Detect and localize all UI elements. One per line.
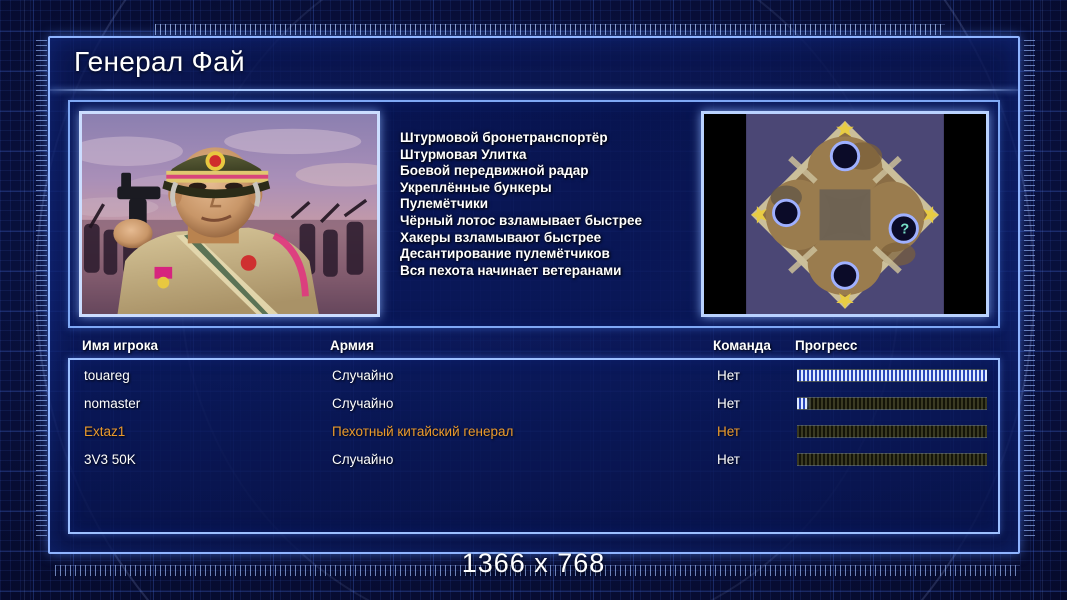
column-header-progress: Прогресс: [795, 338, 857, 353]
general-portrait-image: [82, 114, 377, 316]
ability-item: Боевой передвижной радар: [400, 163, 730, 180]
column-header-team: Команда: [713, 338, 771, 353]
player-name: Extaz1: [84, 420, 125, 444]
resolution-overlay: 1366 x 768: [0, 548, 1067, 579]
minimap-spawn-marker-label: ?: [900, 221, 909, 237]
page-title: Генерал Фай: [74, 46, 245, 78]
player-row[interactable]: Extaz1 Пехотный китайский генерал Нет: [70, 420, 998, 444]
ability-item: Укреплённые бункеры: [400, 180, 730, 197]
player-progress-bar: [797, 397, 987, 410]
background-vline: [24, 0, 25, 600]
player-army[interactable]: Пехотный китайский генерал: [332, 420, 513, 444]
ability-item: Пулемётчики: [400, 196, 730, 213]
player-row[interactable]: touareg Случайно Нет: [70, 364, 998, 388]
ability-item: Вся пехота начинает ветеранами: [400, 263, 730, 280]
player-progress-fill: [797, 398, 807, 409]
player-table-header: Имя игрока Армия Команда Прогресс: [68, 338, 1000, 358]
ability-item: Хакеры взламывают быстрее: [400, 230, 730, 247]
player-name: 3V3 50K: [84, 448, 136, 472]
player-team[interactable]: Нет: [717, 392, 740, 416]
general-info-box: Штурмовой бронетранспортёр Штурмовая Ули…: [68, 100, 1000, 328]
player-team[interactable]: Нет: [717, 420, 740, 444]
player-army[interactable]: Случайно: [332, 448, 393, 472]
ability-item: Штурмовая Улитка: [400, 147, 730, 164]
game-lobby-screen: Генерал Фай: [0, 0, 1067, 600]
background-vline: [1042, 0, 1043, 600]
player-progress-fill: [797, 370, 987, 381]
player-name: nomaster: [84, 392, 140, 416]
title-divider: [50, 89, 1018, 91]
player-team[interactable]: Нет: [717, 448, 740, 472]
column-header-army: Армия: [330, 338, 374, 353]
player-row[interactable]: 3V3 50K Случайно Нет: [70, 448, 998, 472]
ability-item: Десантирование пулемётчиков: [400, 246, 730, 263]
main-panel: Генерал Фай: [48, 36, 1020, 554]
player-progress-bar: [797, 453, 987, 466]
ruler-left: [36, 40, 47, 540]
player-army[interactable]: Случайно: [332, 392, 393, 416]
column-header-name: Имя игрока: [82, 338, 158, 353]
player-progress-bar: [797, 369, 987, 382]
player-row[interactable]: nomaster Случайно Нет: [70, 392, 998, 416]
player-progress-bar: [797, 425, 987, 438]
general-portrait: [79, 111, 380, 317]
ability-item: Чёрный лотос взламывает быстрее: [400, 213, 730, 230]
player-team[interactable]: Нет: [717, 364, 740, 388]
general-ability-list: Штурмовой бронетранспортёр Штурмовая Ули…: [400, 130, 730, 279]
ruler-top: [155, 24, 945, 35]
player-name: touareg: [84, 364, 130, 388]
minimap[interactable]: ?: [701, 111, 989, 317]
ruler-right: [1024, 40, 1035, 540]
player-list: touareg Случайно Нет nomaster Случайно Н…: [68, 358, 1000, 534]
player-army[interactable]: Случайно: [332, 364, 393, 388]
ability-item: Штурмовой бронетранспортёр: [400, 130, 730, 147]
minimap-image: ?: [704, 114, 986, 316]
